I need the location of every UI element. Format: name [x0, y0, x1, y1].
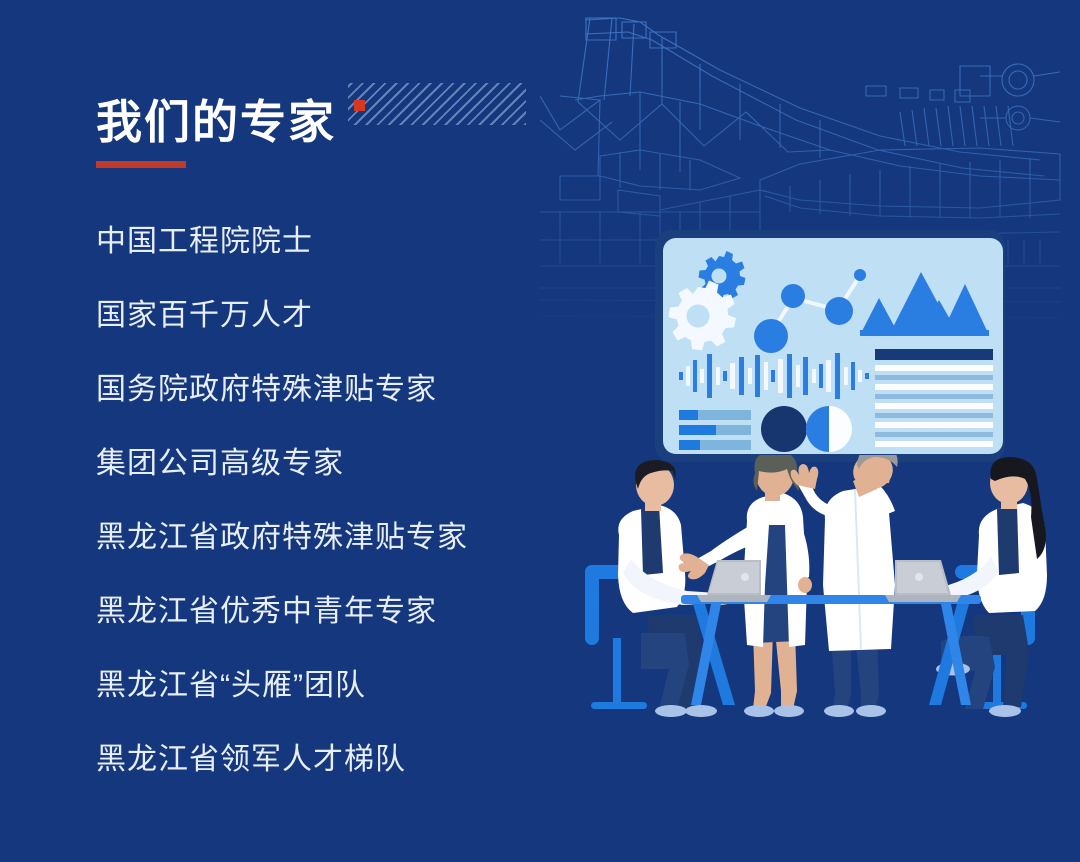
list-item: 黑龙江省优秀中青年专家 [96, 575, 566, 649]
analytics-dashboard-card [663, 238, 1003, 454]
credentials-list: 中国工程院院士 国家百千万人才 国务院政府特殊津贴专家 集团公司高级专家 黑龙江… [96, 205, 566, 797]
list-item: 黑龙江省政府特殊津贴专家 [96, 501, 566, 575]
title-underline-rule [96, 161, 186, 168]
red-dot-marker [354, 100, 365, 111]
list-item: 集团公司高级专家 [96, 427, 566, 501]
list-item: 国家百千万人才 [96, 279, 566, 353]
list-item: 中国工程院院士 [96, 205, 566, 279]
poster-root: 我们的专家 中国工程院院士 国家百千万人才 国务院政府特殊津贴专家 集团公司高级… [0, 0, 1080, 862]
hatch-decoration [348, 83, 526, 125]
list-item: 黑龙江省“头雁”团队 [96, 649, 566, 723]
heading-block: 我们的专家 [96, 60, 536, 180]
list-item: 国务院政府特殊津贴专家 [96, 353, 566, 427]
page-title: 我们的专家 [96, 91, 336, 153]
team-meeting-illustration [585, 455, 1075, 755]
list-item: 黑龙江省领军人才梯队 [96, 723, 566, 797]
